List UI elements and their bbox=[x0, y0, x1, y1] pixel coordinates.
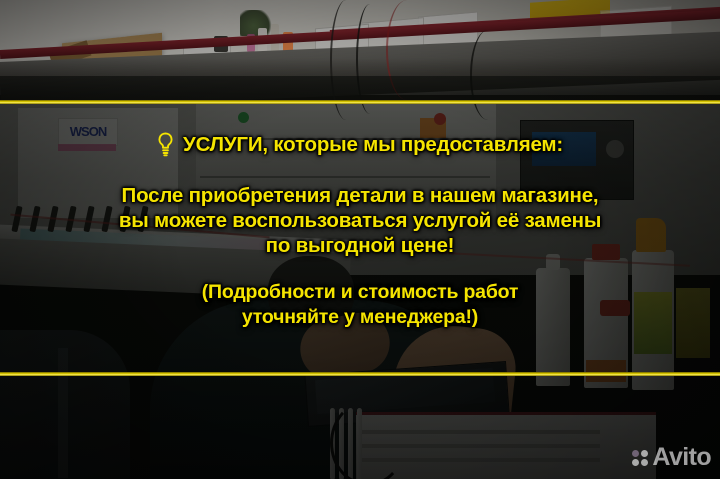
promo-note: (Подробности и стоимость работ уточняйте… bbox=[202, 280, 518, 330]
promo-text-block: УСЛУГИ, которые мы предоставляем: После … bbox=[0, 104, 720, 372]
avito-watermark: Avito bbox=[632, 445, 711, 470]
bottom-divider-rule bbox=[0, 372, 720, 376]
promo-paragraph: После приобретения детали в нашем магази… bbox=[119, 183, 601, 258]
advertisement-banner: WSON bbox=[0, 0, 720, 479]
headline-row: УСЛУГИ, которые мы предоставляем: bbox=[157, 132, 563, 157]
lightbulb-icon bbox=[157, 132, 174, 157]
avito-dots-icon bbox=[632, 450, 648, 466]
headline-text: УСЛУГИ, которые мы предоставляем: bbox=[183, 133, 563, 157]
avito-wordmark: Avito bbox=[652, 445, 711, 470]
